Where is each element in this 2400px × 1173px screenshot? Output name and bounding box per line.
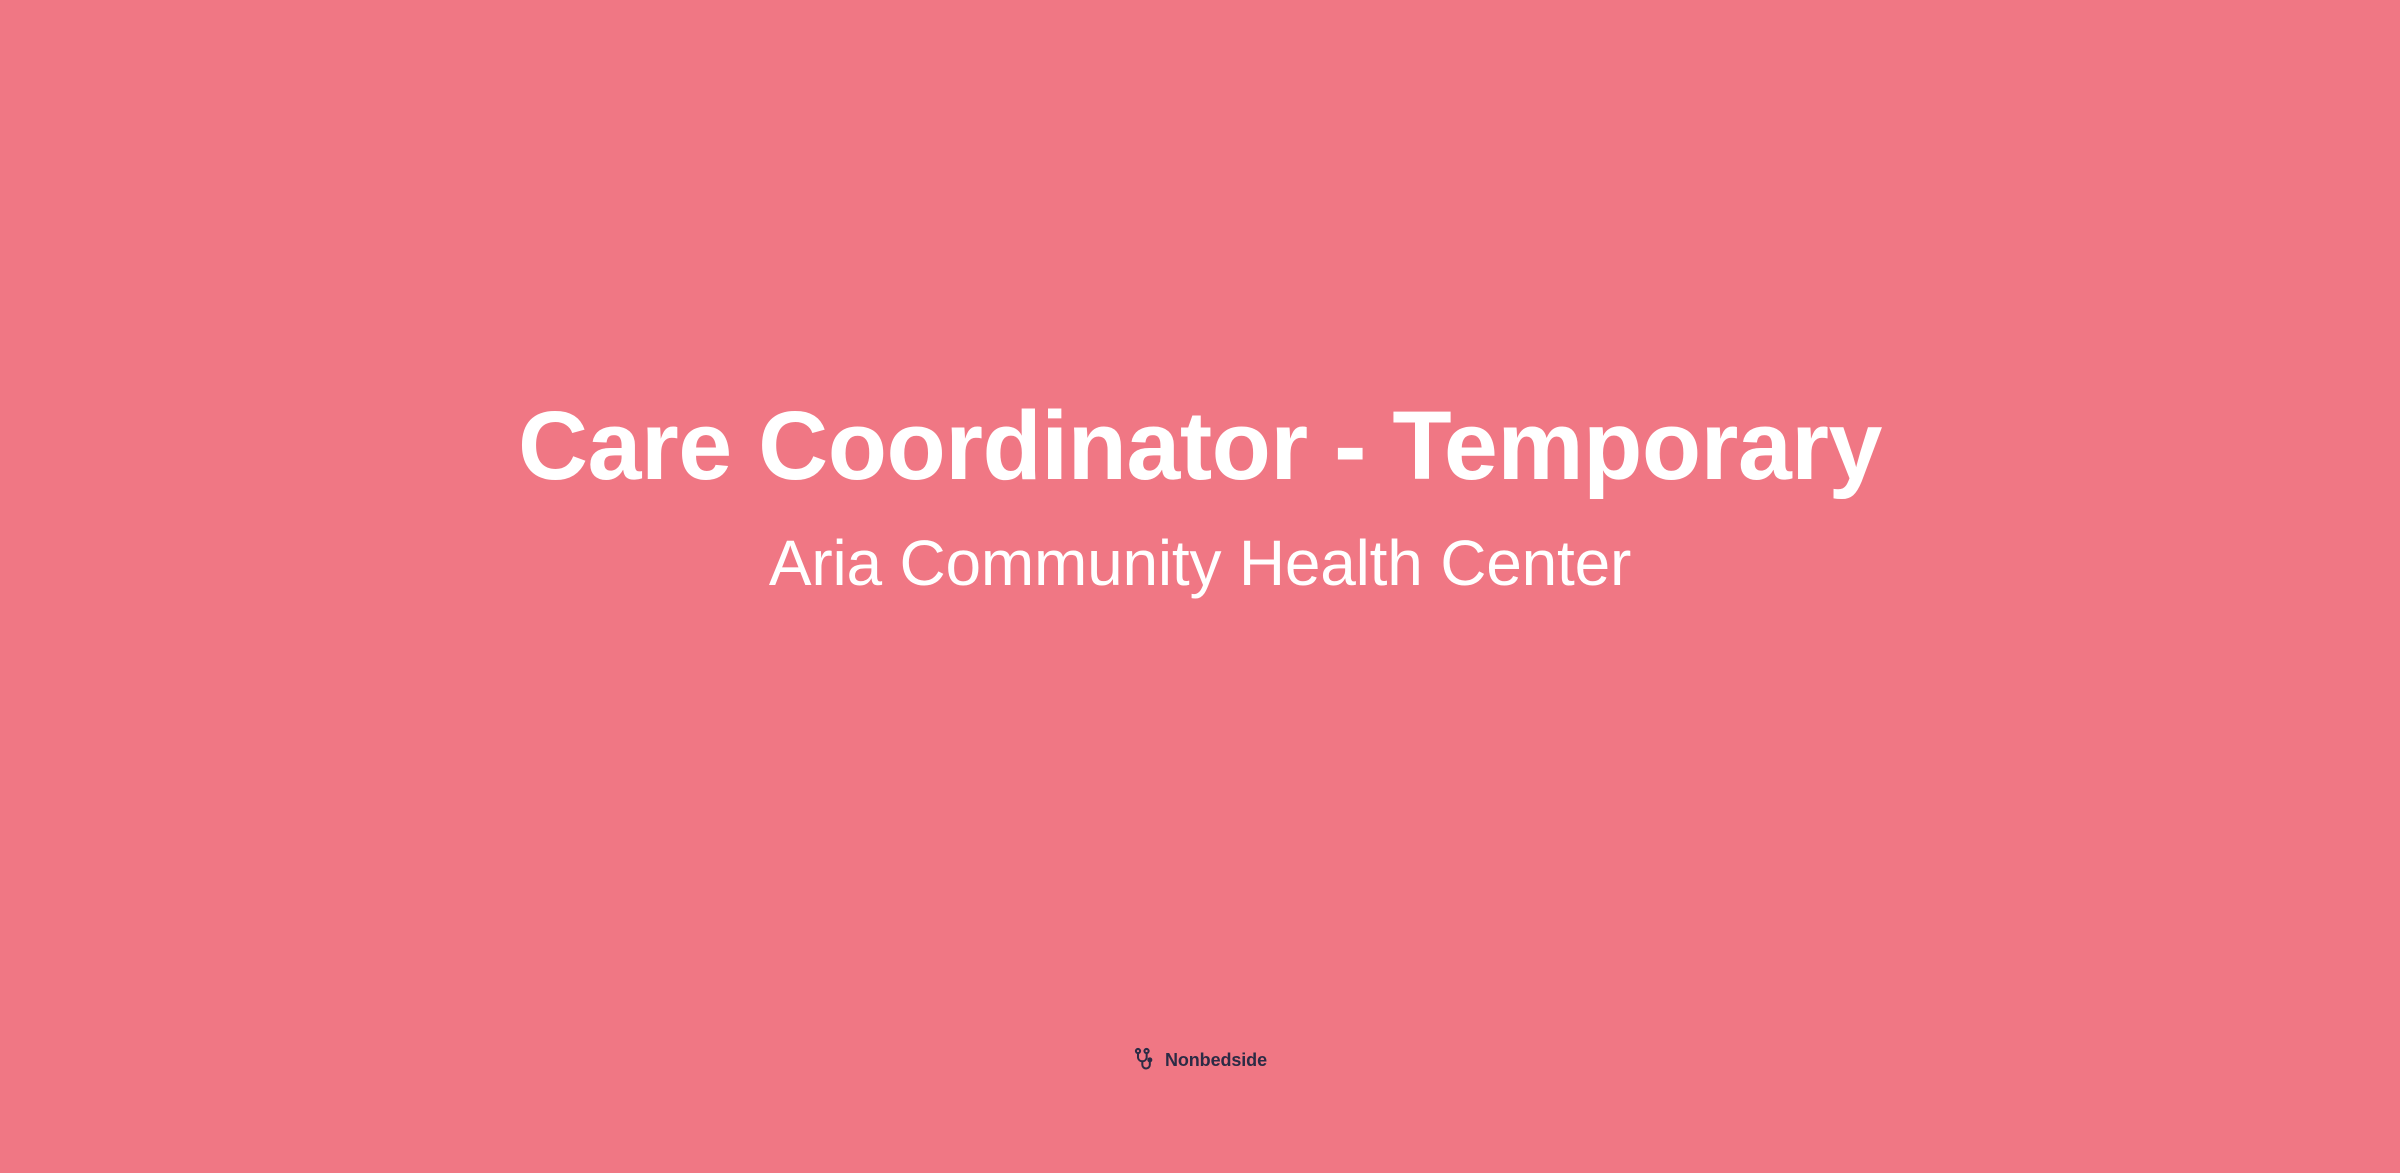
stethoscope-icon bbox=[1133, 1047, 1158, 1073]
hero-block: Care Coordinator - Temporary Aria Commun… bbox=[0, 390, 2400, 601]
page-subtitle: Aria Community Health Center bbox=[769, 525, 1631, 602]
job-title-slide: Care Coordinator - Temporary Aria Commun… bbox=[0, 0, 2400, 1173]
page-title: Care Coordinator - Temporary bbox=[518, 390, 1882, 503]
brand-name: Nonbedside bbox=[1165, 1051, 1267, 1069]
brand-footer: Nonbedside bbox=[0, 1047, 2400, 1073]
